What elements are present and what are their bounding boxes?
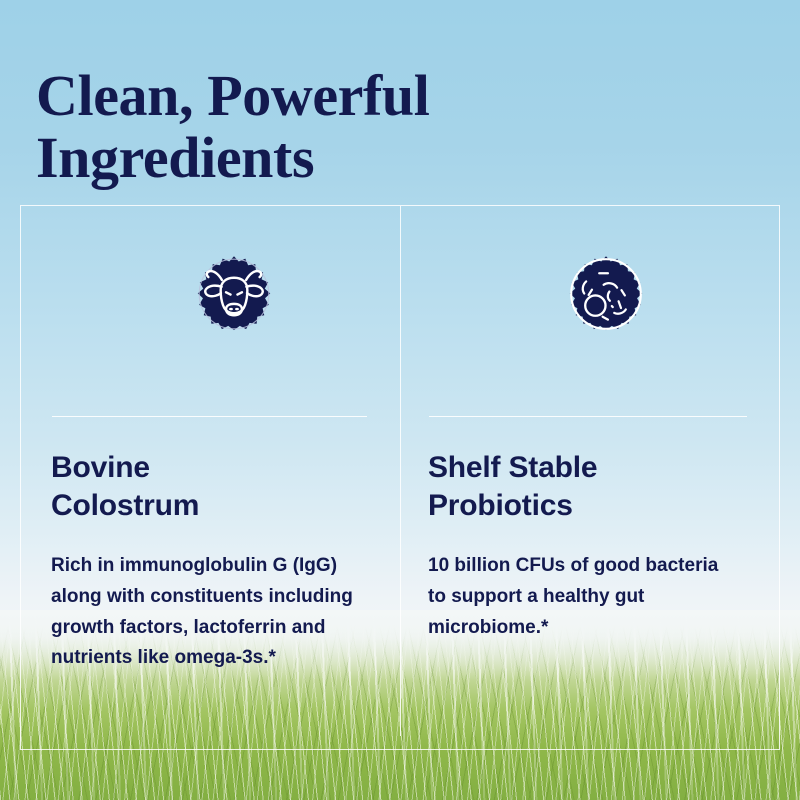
ingredients-panel: Bovine Colostrum Rich in immunoglobulin …: [20, 205, 780, 750]
cow-badge-container: [51, 206, 372, 381]
card-title-line-1: Bovine: [51, 449, 372, 487]
card-body-bovine-colostrum: Rich in immunoglobulin G (IgG) along wit…: [51, 551, 372, 674]
promo-graphic: Clean, Powerful Ingredients: [0, 0, 800, 800]
cow-head-badge-icon: [176, 236, 292, 352]
card-title-line-1: Shelf Stable: [428, 449, 749, 487]
card-title-line-2: Probiotics: [428, 487, 749, 525]
probiotic-badge-container: [428, 206, 749, 381]
page-title-line-2: Ingredients: [36, 127, 676, 190]
card-body-line-2: along with constituents including: [51, 582, 372, 613]
card-body-line-3: growth factors, lactoferrin and: [51, 613, 372, 644]
card-body-line-2: to support a healthy gut: [428, 582, 749, 613]
probiotic-bacteria-badge-icon: [548, 236, 664, 352]
ingredient-card-shelf-stable-probiotics: Shelf Stable Probiotics 10 billion CFUs …: [400, 206, 779, 749]
card-body-line-3: microbiome.*: [428, 613, 749, 644]
card-body-line-1: Rich in immunoglobulin G (IgG): [51, 551, 372, 582]
card-body-line-4: nutrients like omega-3s.*: [51, 643, 372, 674]
card-title-shelf-stable-probiotics: Shelf Stable Probiotics: [428, 449, 749, 525]
page-title: Clean, Powerful Ingredients: [36, 65, 676, 190]
card-title-bovine-colostrum: Bovine Colostrum: [51, 449, 372, 525]
page-title-line-1: Clean, Powerful: [36, 65, 676, 128]
card-body-shelf-stable-probiotics: 10 billion CFUs of good bacteria to supp…: [428, 551, 749, 643]
card-body-line-1: 10 billion CFUs of good bacteria: [428, 551, 749, 582]
card-divider-left: [52, 416, 367, 417]
card-divider-right: [429, 416, 747, 417]
ingredient-card-bovine-colostrum: Bovine Colostrum Rich in immunoglobulin …: [21, 206, 400, 749]
card-title-line-2: Colostrum: [51, 487, 372, 525]
